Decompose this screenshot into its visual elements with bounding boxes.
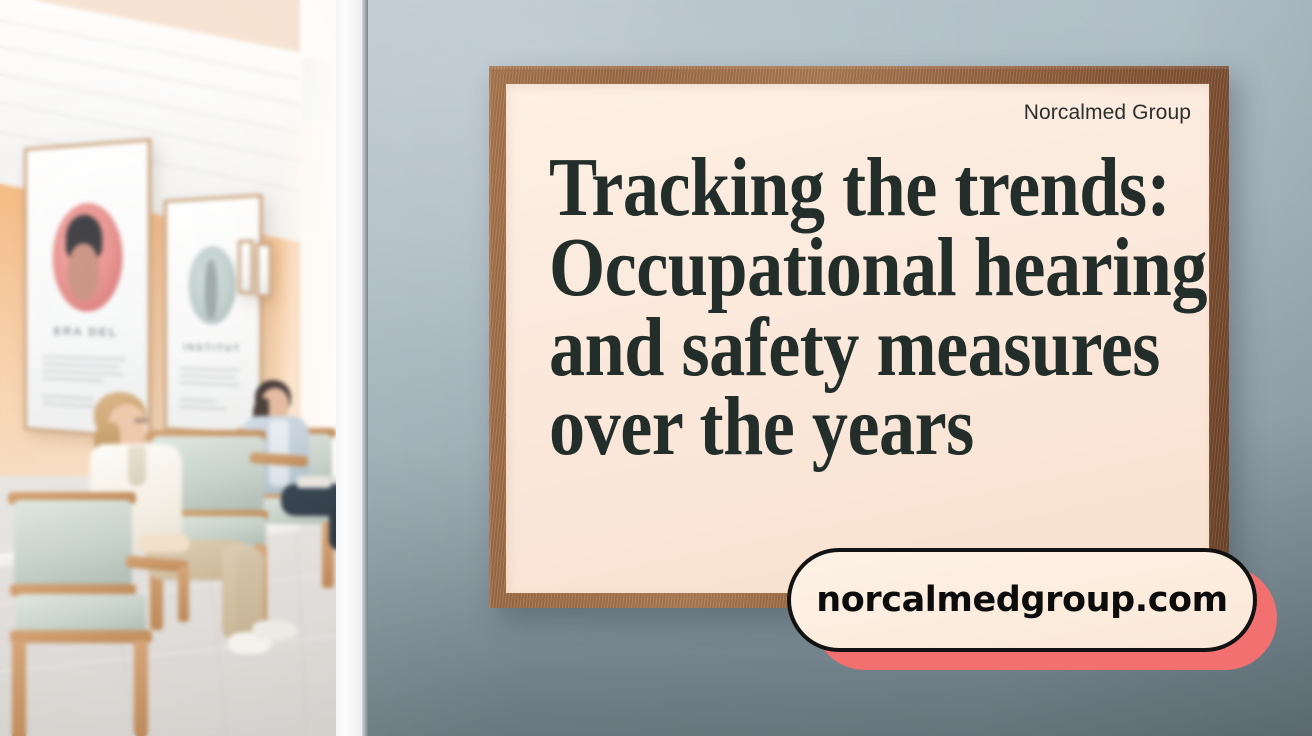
headline-line-1: Tracking the trends: xyxy=(549,148,1117,228)
website-pill-group[interactable]: norcalmedgroup.com xyxy=(787,548,1271,656)
wall-poster-2: INSTITUT xyxy=(164,194,263,436)
website-url-label: norcalmedgroup.com xyxy=(816,580,1228,620)
waiting-room-photo: ERA DEL INSTITUT xyxy=(0,0,368,736)
poster-2-caption: INSTITUT xyxy=(167,342,259,354)
brand-name: Norcalmed Group xyxy=(1024,101,1191,125)
board-surface: Norcalmed Group Tracking the trends: Occ… xyxy=(506,84,1209,593)
banner-canvas: ERA DEL INSTITUT xyxy=(0,0,1312,736)
waiting-chair-front xyxy=(8,500,178,736)
poster-1-caption: ERA DEL xyxy=(27,325,148,340)
photo-pillar-shadow xyxy=(362,0,368,736)
headline-line-2: Occupational hearing loss xyxy=(549,228,1117,308)
headline-line-4: over the years xyxy=(549,387,1117,467)
website-pill[interactable]: norcalmedgroup.com xyxy=(787,548,1257,652)
headline-line-3: and safety measures xyxy=(549,308,1117,388)
wall-poster-3 xyxy=(238,240,254,294)
framed-poster-board: Norcalmed Group Tracking the trends: Occ… xyxy=(489,66,1229,608)
page-title: Tracking the trends: Occupational hearin… xyxy=(549,148,1117,467)
wall-poster-4 xyxy=(256,243,272,297)
